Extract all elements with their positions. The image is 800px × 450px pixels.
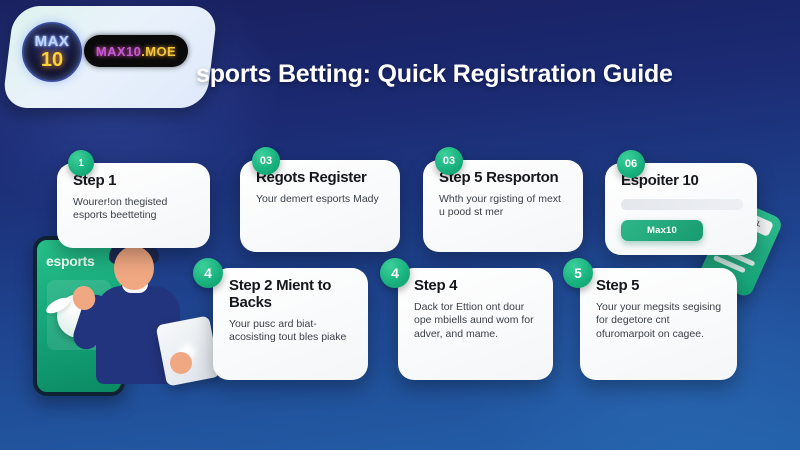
step-badge-6: 4	[380, 258, 410, 288]
step-card-2-title: Regots Register	[256, 170, 386, 187]
step-badge-2: 03	[252, 147, 280, 175]
step-card-4-title: Espoiter 10	[621, 173, 743, 190]
step-badge-4: 06	[617, 150, 645, 178]
step-card-6-title: Step 4	[414, 278, 539, 295]
step-badge-1: 1	[68, 150, 94, 176]
brand-wordmark-pill: MAX10.MOE	[84, 35, 188, 67]
step-card-5-title: Step 2 Mient to Backs	[229, 278, 354, 312]
step-card-2-body: Your demert esports Mady	[256, 193, 386, 206]
hero-illustration: esports	[18, 228, 218, 423]
person-hand-right	[170, 352, 192, 374]
registration-input-field[interactable]	[621, 199, 743, 210]
step-card-1-title: Step 1	[73, 173, 196, 190]
step-card-7[interactable]: Step 5 Your your megsits segising for de…	[580, 268, 737, 380]
step-card-3-title: Step 5 Resporton	[439, 170, 569, 187]
brand-emblem-max-text: MAX	[35, 34, 70, 49]
step-badge-5: 4	[193, 258, 223, 288]
person-head	[114, 246, 154, 290]
brand-emblem-icon: MAX 10	[22, 22, 82, 82]
tablet-icon	[156, 315, 221, 386]
step-card-1-body: Wourer!on thegisted esports beetteting	[73, 196, 196, 223]
step-card-7-title: Step 5	[596, 278, 723, 295]
step-card-6-body: Dack tor Ettion ont dour ope mbiells aun…	[414, 301, 539, 341]
step-card-3-body: Whth your rgisting of mext u pood st mer	[439, 193, 569, 220]
max10-cta-button[interactable]: Max10	[621, 220, 703, 241]
step-card-5-body: Your pusc ard biat-acosisting tout bles …	[229, 318, 354, 345]
step-card-5[interactable]: Step 2 Mient to Backs Your pusc ard biat…	[213, 268, 368, 380]
brand-wordmark-secondary: .MOE	[141, 44, 176, 59]
brand-wordmark-primary: MAX10	[96, 44, 141, 59]
step-badge-7: 5	[563, 258, 593, 288]
step-card-6[interactable]: Step 4 Dack tor Ettion ont dour ope mbie…	[398, 268, 553, 380]
phone-screen-label: esports	[46, 253, 94, 269]
step-card-7-body: Your your megsits segising for degetore …	[596, 301, 723, 341]
step-badge-3: 03	[435, 147, 463, 175]
page-title: sports Betting: Quick Registration Guide	[196, 56, 673, 92]
brand-emblem-ten-text: 10	[41, 50, 63, 70]
